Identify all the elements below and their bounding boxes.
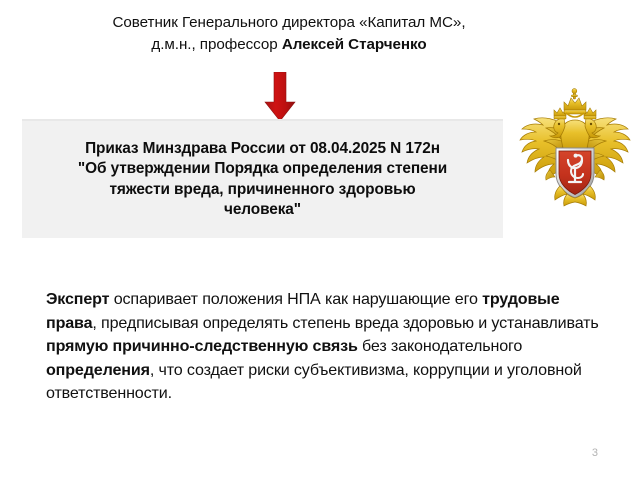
body-segment-0: Эксперт — [46, 290, 109, 308]
down-arrow-icon — [264, 72, 296, 122]
slide-canvas: Советник Генерального директора «Капитал… — [0, 0, 640, 480]
order-line-3: тяжести вреда, причиненного здоровью — [30, 180, 495, 200]
page-title-line-2: д.м.н., профессор Алексей Старченко — [54, 34, 524, 56]
page-number: 3 — [592, 447, 598, 459]
order-line-4: человека" — [30, 200, 495, 220]
order-callout-box: Приказ Минздрава России от 08.04.2025 N … — [22, 121, 503, 238]
body-segment-6: определения — [46, 361, 150, 379]
body-segment-1: оспаривает положения НПА как нарушающие … — [109, 290, 482, 308]
page-title-person-name: Алексей Старченко — [282, 36, 427, 53]
page-title: Советник Генерального директора «Капитал… — [54, 12, 524, 56]
order-line-2: "Об утверждении Порядка определения степ… — [30, 159, 495, 179]
page-title-line-1: Советник Генерального директора «Капитал… — [54, 12, 524, 34]
russian-ministry-of-health-emblem-icon — [516, 86, 634, 208]
page-title-role: д.м.н., профессор — [151, 36, 281, 53]
order-line-1: Приказ Минздрава России от 08.04.2025 N … — [30, 139, 495, 159]
order-callout-text: Приказ Минздрава России от 08.04.2025 N … — [22, 139, 503, 221]
body-segment-5: без законодательного — [358, 337, 522, 355]
body-paragraph: Эксперт оспаривает положения НПА как нар… — [46, 288, 602, 405]
body-segment-4: прямую причинно-следственную связь — [46, 337, 358, 355]
body-segment-3: , предписывая определять степень вреда з… — [92, 314, 598, 332]
